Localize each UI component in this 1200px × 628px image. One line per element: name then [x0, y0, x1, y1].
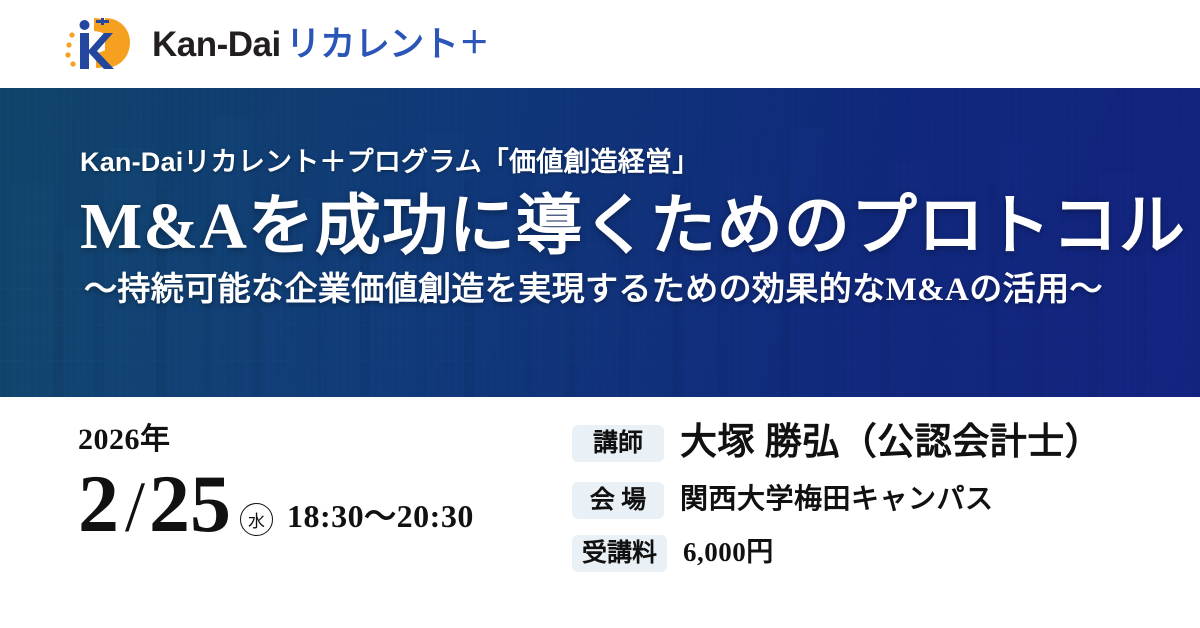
hero-banner: Kan-Daiリカレント＋プログラム「価値創造経営」 M&Aを成功に導くためのプ…: [0, 88, 1200, 397]
event-weekday-label: 水: [248, 507, 265, 532]
page-header: Kan-Dai リカレント ＋: [0, 0, 1200, 88]
fee-label-badge: 受講料: [572, 535, 667, 572]
brand-name-primary: Kan-Dai: [152, 27, 281, 62]
venue-name: 関西大学梅田キャンパス: [680, 485, 994, 516]
event-time: 18:30〜20:30: [287, 491, 474, 537]
hero-title: M&Aを成功に導くためのプロトコル: [80, 191, 1200, 262]
venue-label-badge: 会 場: [572, 482, 664, 519]
event-month: 2: [78, 461, 119, 547]
brand-logo[interactable]: Kan-Dai リカレント ＋: [60, 13, 489, 75]
brand-wordmark: Kan-Dai リカレント ＋: [152, 27, 489, 62]
lecturer-name: 大塚 勝弘（公認会計士）: [680, 423, 1102, 464]
fee-amount: 6,000円: [683, 538, 774, 568]
brand-plus-glyph: ＋: [459, 29, 489, 59]
brand-name-secondary: リカレント: [286, 27, 459, 62]
hero-text-block: Kan-Daiリカレント＋プログラム「価値創造経営」 M&Aを成功に導くためのプ…: [0, 88, 1200, 397]
detail-row-fee: 受講料 6,000円: [572, 535, 1200, 572]
event-day: 25: [149, 461, 231, 547]
event-year: 2026年: [78, 425, 560, 455]
lecturer-label-badge: 講師: [572, 425, 664, 462]
date-separator: /: [125, 470, 145, 546]
detail-row-venue: 会 場 関西大学梅田キャンパス: [572, 482, 1200, 519]
detail-row-lecturer: 講師 大塚 勝弘（公認会計士）: [572, 423, 1200, 464]
hero-subtitle: 〜持続可能な企業価値創造を実現するための効果的なM&Aの活用〜: [84, 272, 1200, 308]
event-date-row: 2 / 25 水 18:30〜20:30: [78, 461, 560, 547]
event-details-block: 講師 大塚 勝弘（公認会計士） 会 場 関西大学梅田キャンパス 受講料 6,00…: [560, 397, 1200, 628]
event-info-section: 2026年 2 / 25 水 18:30〜20:30 講師 大塚 勝弘（公認会計…: [0, 397, 1200, 628]
hero-program-label: Kan-Daiリカレント＋プログラム「価値創造経営」: [80, 148, 1200, 178]
event-weekday-badge: 水: [240, 503, 273, 536]
event-schedule-block: 2026年 2 / 25 水 18:30〜20:30: [0, 397, 560, 628]
kandai-k-teardrop-logo-icon: [60, 13, 138, 75]
